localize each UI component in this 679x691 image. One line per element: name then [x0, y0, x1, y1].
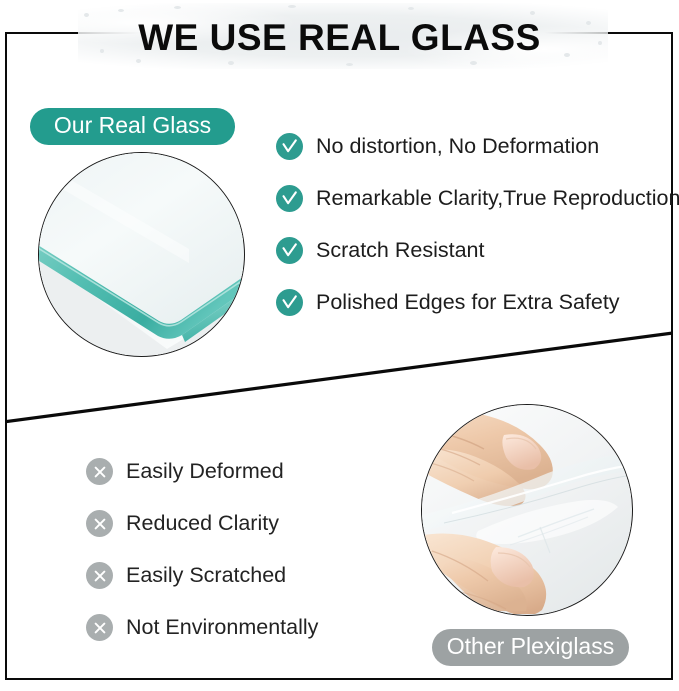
list-item-label: Easily Scratched	[126, 564, 286, 588]
list-item: Polished Edges for Extra Safety	[276, 289, 620, 316]
check-icon	[276, 185, 303, 212]
list-item-label: Remarkable Clarity,True Reproduction	[316, 187, 679, 211]
list-item: Easily Scratched	[86, 562, 286, 589]
badge-other-plexiglass: Other Plexiglass	[432, 629, 629, 666]
list-item-label: Reduced Clarity	[126, 512, 279, 536]
list-item: No distortion, No Deformation	[276, 133, 599, 160]
list-item-label: Not Environmentally	[126, 616, 318, 640]
x-icon	[86, 458, 113, 485]
list-item: Easily Deformed	[86, 458, 284, 485]
check-icon	[276, 133, 303, 160]
list-item-label: Easily Deformed	[126, 460, 284, 484]
badge-our-real-glass: Our Real Glass	[30, 108, 235, 145]
check-icon	[276, 237, 303, 264]
list-item: Remarkable Clarity,True Reproduction	[276, 185, 679, 212]
check-icon	[276, 289, 303, 316]
page-title: WE USE REAL GLASS	[0, 16, 679, 60]
x-icon	[86, 562, 113, 589]
real-glass-photo	[38, 152, 245, 357]
list-item: Reduced Clarity	[86, 510, 279, 537]
list-item-label: Polished Edges for Extra Safety	[316, 291, 620, 315]
x-icon	[86, 510, 113, 537]
plexiglass-photo	[421, 404, 633, 616]
list-item-label: No distortion, No Deformation	[316, 135, 599, 159]
x-icon	[86, 614, 113, 641]
list-item: Scratch Resistant	[276, 237, 484, 264]
list-item-label: Scratch Resistant	[316, 239, 484, 263]
list-item: Not Environmentally	[86, 614, 318, 641]
